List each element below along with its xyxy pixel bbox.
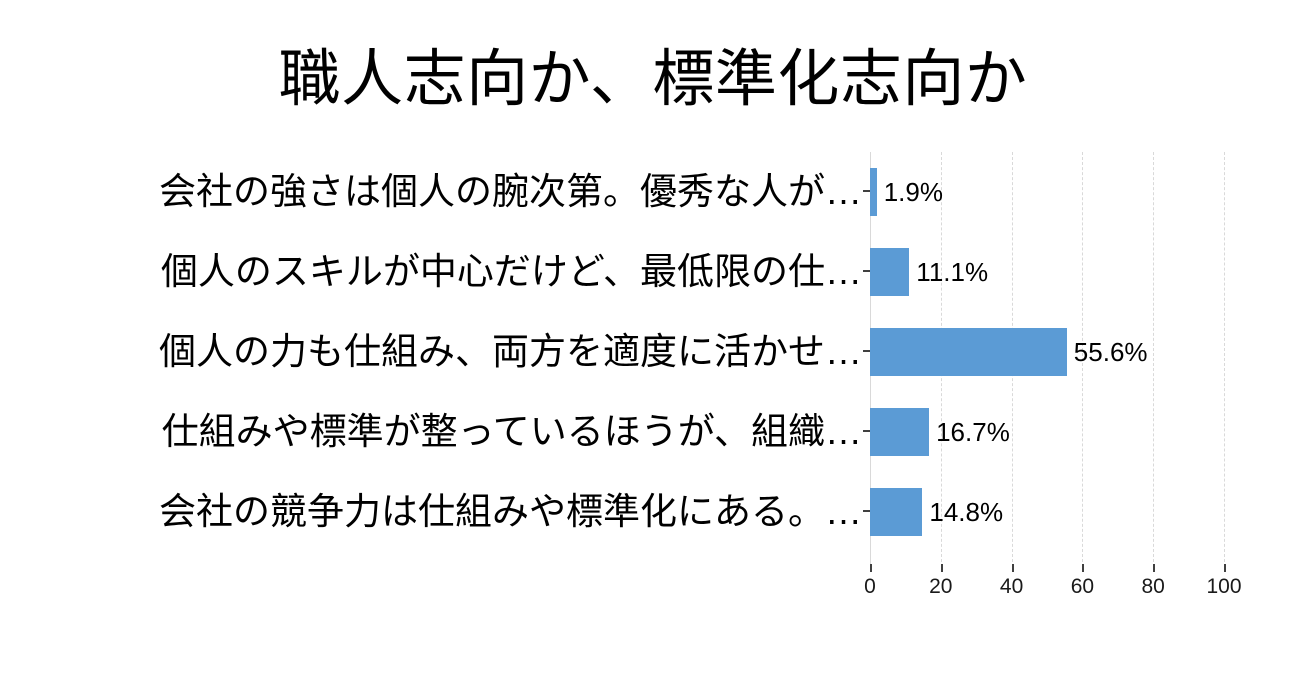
value-tick-label: 80 <box>1142 575 1165 599</box>
value-tick <box>941 564 943 572</box>
bar-row: 11.1% <box>870 232 1224 312</box>
category-axis-labels: 会社の強さは個人の腕次第。優秀な人が… 個人のスキルが中心だけど、最低限の仕… … <box>40 152 866 562</box>
bar[interactable] <box>870 328 1067 376</box>
value-tick-label: 20 <box>929 575 952 599</box>
category-label: 個人の力も仕組み、両方を適度に活かせ… <box>159 312 862 392</box>
category-tick <box>863 430 870 432</box>
value-axis: 0 20 40 60 80 100 <box>870 564 1224 610</box>
value-tick <box>1224 564 1226 572</box>
bar-row: 55.6% <box>870 312 1224 392</box>
slide-canvas: 職人志向か、標準化志向か 会社の強さは個人の腕次第。優秀な人が… 個人のスキルが… <box>0 0 1306 683</box>
value-tick-label: 0 <box>864 575 876 599</box>
value-tick-label: 100 <box>1206 575 1241 599</box>
bar-row: 14.8% <box>870 472 1224 552</box>
category-tick <box>863 350 870 352</box>
bar[interactable] <box>870 248 909 296</box>
category-label: 会社の競争力は仕組みや標準化にある。… <box>159 472 862 552</box>
value-tick-label: 40 <box>1000 575 1023 599</box>
bar[interactable] <box>870 168 877 216</box>
category-tick <box>863 190 870 192</box>
bar-row: 16.7% <box>870 392 1224 472</box>
value-tick-label: 60 <box>1071 575 1094 599</box>
bar-value-label: 11.1% <box>909 248 988 296</box>
bar-value-label: 16.7% <box>929 408 1010 456</box>
value-tick <box>1082 564 1084 572</box>
category-label: 会社の強さは個人の腕次第。優秀な人が… <box>159 152 862 232</box>
bar[interactable] <box>870 408 929 456</box>
bar-value-label: 14.8% <box>922 488 1003 536</box>
value-tick <box>1153 564 1155 572</box>
bar[interactable] <box>870 488 922 536</box>
bar-row: 1.9% <box>870 152 1224 232</box>
category-tick <box>863 510 870 512</box>
bar-value-label: 1.9% <box>877 168 943 216</box>
category-tick <box>863 270 870 272</box>
gridline <box>1224 152 1225 562</box>
category-label: 仕組みや標準が整っているほうが、組織… <box>162 392 862 472</box>
value-tick <box>1012 564 1014 572</box>
bar-value-label: 55.6% <box>1067 328 1148 376</box>
plot-area: 1.9% 11.1% 55.6% 16.7% 14.8% <box>870 152 1224 562</box>
bar-chart: 会社の強さは個人の腕次第。優秀な人が… 個人のスキルが中心だけど、最低限の仕… … <box>0 0 1306 683</box>
category-label: 個人のスキルが中心だけど、最低限の仕… <box>161 232 862 312</box>
value-tick <box>870 564 872 572</box>
